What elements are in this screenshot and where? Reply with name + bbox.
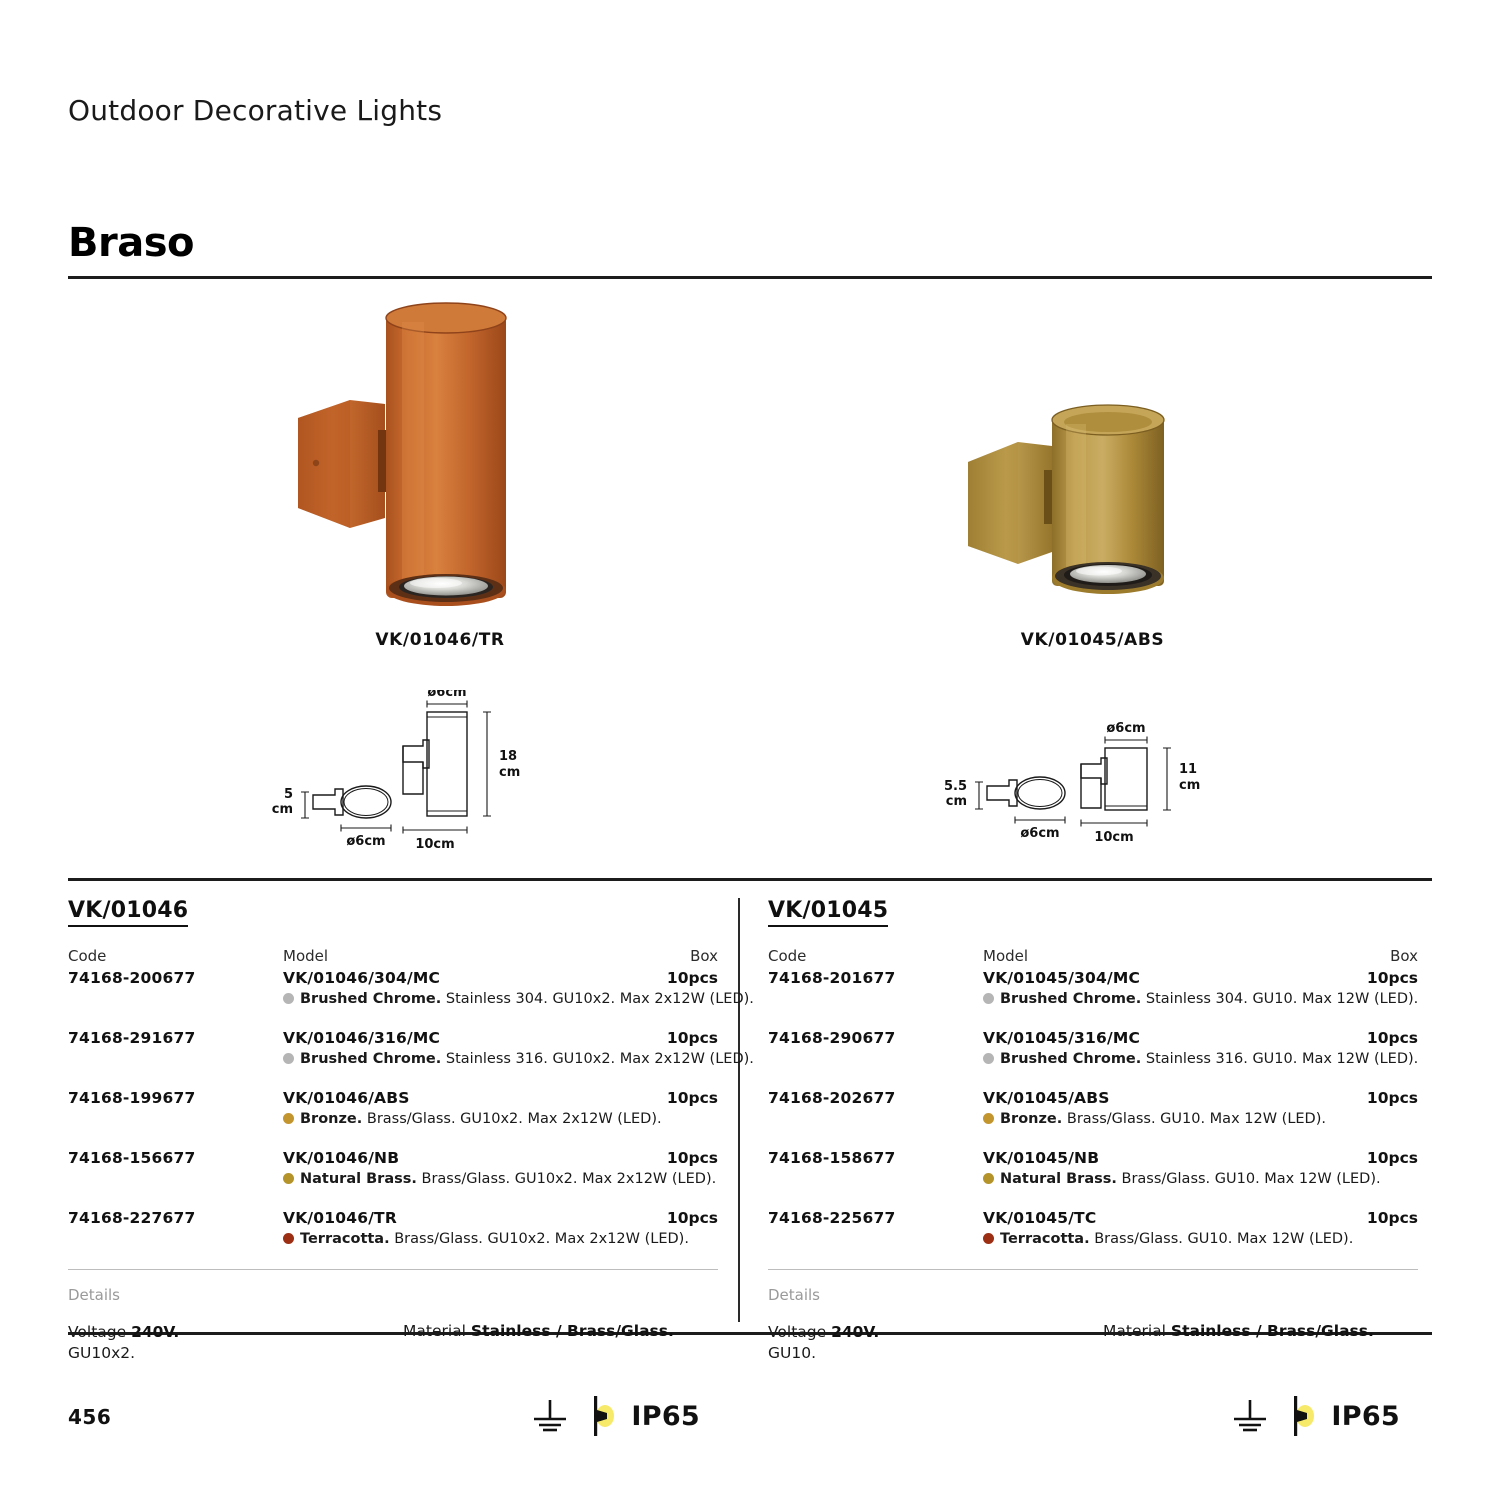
dim-right-side-height-1: 5.5: [944, 779, 967, 794]
table-row[interactable]: 74168-201677 VK/01045/304/MC 10pcs Brush…: [768, 969, 1418, 1013]
socket-value: GU10x2.: [68, 1344, 135, 1362]
color-swatch-icon: [983, 1173, 994, 1184]
row-code: 74168-202677: [768, 1089, 895, 1107]
row-finish: Bronze.: [1000, 1111, 1062, 1127]
dim-right-side-height-2: cm: [946, 794, 967, 809]
spec-column-title: VK/01046: [68, 898, 188, 927]
row-specs: Stainless 304. GU10x2. Max 2x12W (LED).: [446, 991, 754, 1007]
row-box: 10pcs: [1367, 1029, 1418, 1047]
color-swatch-icon: [283, 1113, 294, 1124]
dim-left-side-height-2: cm: [272, 802, 293, 817]
row-code: 74168-200677: [68, 969, 195, 987]
voltage-label: Voltage: [768, 1323, 826, 1341]
dim-right-side-diameter: ø6cm: [1020, 826, 1059, 841]
row-box: 10pcs: [667, 1089, 718, 1107]
color-swatch-icon: [983, 1113, 994, 1124]
column-header-code: Code: [68, 947, 106, 965]
wall-mounted-light-icon: [1289, 1394, 1315, 1438]
row-description: Brushed Chrome. Stainless 304. GU10x2. M…: [283, 991, 754, 1007]
row-box: 10pcs: [667, 969, 718, 987]
color-swatch-icon: [283, 993, 294, 1004]
header-divider-rule: [68, 276, 1432, 279]
dim-left-front-height-2: cm: [499, 765, 520, 780]
details-label: Details: [768, 1286, 1418, 1304]
product-photo-vk01045-abs: [960, 400, 1225, 620]
row-finish: Brushed Chrome.: [300, 1051, 441, 1067]
row-specs: Brass/Glass. GU10. Max 12W (LED).: [1094, 1231, 1353, 1247]
row-specs: Brass/Glass. GU10. Max 12W (LED).: [1067, 1111, 1326, 1127]
row-box: 10pcs: [1367, 1209, 1418, 1227]
color-swatch-icon: [283, 1053, 294, 1064]
row-finish: Brushed Chrome.: [1000, 991, 1141, 1007]
socket-value: GU10.: [768, 1344, 816, 1362]
dim-right-front-width: 10cm: [1094, 830, 1133, 845]
material-detail: Material Stainless / Brass/Glass.: [1103, 1322, 1374, 1340]
column-header-box: Box: [1390, 947, 1418, 965]
row-box: 10pcs: [1367, 1149, 1418, 1167]
voltage-label: Voltage: [68, 1323, 126, 1341]
row-specs: Brass/Glass. GU10. Max 12W (LED).: [1122, 1171, 1381, 1187]
row-specs: Brass/Glass. GU10x2. Max 2x12W (LED).: [367, 1111, 662, 1127]
row-description: Terracotta. Brass/Glass. GU10. Max 12W (…: [983, 1231, 1353, 1247]
row-model: VK/01045/NB: [983, 1149, 1099, 1167]
row-model: VK/01045/TC: [983, 1209, 1096, 1227]
dim-left-front-width: 10cm: [415, 837, 454, 852]
row-description: Brushed Chrome. Stainless 304. GU10. Max…: [983, 991, 1418, 1007]
table-row[interactable]: 74168-291677 VK/01046/316/MC 10pcs Brush…: [68, 1029, 718, 1073]
column-header-model: Model: [283, 947, 328, 965]
dim-left-side-height-1: 5: [284, 787, 293, 802]
row-model: VK/01045/304/MC: [983, 969, 1140, 987]
product-photo-vk01046-tr: [290, 300, 590, 620]
row-code: 74168-201677: [768, 969, 895, 987]
material-label: Material: [1103, 1322, 1166, 1340]
dim-right-front-width-top: ø6cm: [1106, 721, 1145, 736]
dim-right-front-height-1: 11: [1179, 762, 1197, 777]
page-number: 456: [68, 1405, 111, 1429]
material-value: Stainless / Brass/Glass.: [1171, 1322, 1374, 1340]
details-divider: [68, 1269, 718, 1270]
ip-rating-badge: IP65: [631, 1401, 700, 1432]
row-description: Bronze. Brass/Glass. GU10. Max 12W (LED)…: [983, 1111, 1326, 1127]
dim-left-front-height-1: 18: [499, 749, 517, 764]
page-category-title: Outdoor Decorative Lights: [68, 94, 442, 127]
voltage-value: 240V.: [831, 1323, 879, 1341]
row-code: 74168-225677: [768, 1209, 895, 1227]
dim-right-front-height-2: cm: [1179, 778, 1200, 793]
table-row[interactable]: 74168-227677 VK/01046/TR 10pcs Terracott…: [68, 1209, 718, 1253]
column-header-model: Model: [983, 947, 1028, 965]
row-model: VK/01045/316/MC: [983, 1029, 1140, 1047]
row-description: Bronze. Brass/Glass. GU10x2. Max 2x12W (…: [283, 1111, 662, 1127]
color-swatch-icon: [283, 1173, 294, 1184]
earth-ground-icon: [1227, 1396, 1273, 1436]
table-header-row: Code Model Box: [68, 947, 718, 967]
row-finish: Brushed Chrome.: [1000, 1051, 1141, 1067]
row-box: 10pcs: [667, 1029, 718, 1047]
voltage-detail: Voltage 240V. GU10x2.: [68, 1322, 179, 1364]
table-row[interactable]: 74168-290677 VK/01045/316/MC 10pcs Brush…: [768, 1029, 1418, 1073]
row-box: 10pcs: [667, 1209, 718, 1227]
row-code: 74168-158677: [768, 1149, 895, 1167]
dimension-drawing-vk01046: 5 cm ø6cm ø6cm 18 cm 10cm: [265, 690, 565, 860]
row-finish: Bronze.: [300, 1111, 362, 1127]
row-model: VK/01046/316/MC: [283, 1029, 440, 1047]
wall-mounted-light-icon: [589, 1394, 615, 1438]
column-separator: [738, 898, 740, 1322]
row-finish: Natural Brass.: [1000, 1171, 1117, 1187]
row-box: 10pcs: [667, 1149, 718, 1167]
row-code: 74168-291677: [68, 1029, 195, 1047]
voltage-detail: Voltage 240V. GU10.: [768, 1322, 879, 1364]
row-finish: Terracotta.: [300, 1231, 390, 1247]
product-caption-right: VK/01045/ABS: [960, 630, 1225, 650]
badges-row: IP65: [768, 1382, 1418, 1438]
material-value: Stainless / Brass/Glass.: [471, 1322, 674, 1340]
row-finish: Natural Brass.: [300, 1171, 417, 1187]
row-box: 10pcs: [1367, 1089, 1418, 1107]
dimension-drawings-zone: 5 cm ø6cm ø6cm 18 cm 10cm: [0, 690, 1500, 860]
spec-column-vk01045: VK/01045 Code Model Box 74168-201677 VK/…: [768, 898, 1418, 1438]
row-specs: Stainless 316. GU10. Max 12W (LED).: [1146, 1051, 1418, 1067]
row-model: VK/01046/ABS: [283, 1089, 410, 1107]
row-description: Natural Brass. Brass/Glass. GU10. Max 12…: [983, 1171, 1381, 1187]
table-row[interactable]: 74168-156677 VK/01046/NB 10pcs Natural B…: [68, 1149, 718, 1193]
product-photo-zone: VK/01046/TR VK/01045/ABS: [0, 290, 1500, 660]
dim-left-side-diameter: ø6cm: [346, 834, 385, 849]
row-specs: Brass/Glass. GU10x2. Max 2x12W (LED).: [394, 1231, 689, 1247]
row-model: VK/01045/ABS: [983, 1089, 1110, 1107]
row-description: Terracotta. Brass/Glass. GU10x2. Max 2x1…: [283, 1231, 689, 1247]
table-row[interactable]: 74168-199677 VK/01046/ABS 10pcs Bronze. …: [68, 1089, 718, 1133]
row-model: VK/01046/NB: [283, 1149, 399, 1167]
tables-top-rule: [68, 878, 1432, 881]
table-row[interactable]: 74168-200677 VK/01046/304/MC 10pcs Brush…: [68, 969, 718, 1013]
product-caption-left: VK/01046/TR: [290, 630, 590, 650]
voltage-value: 240V.: [131, 1323, 179, 1341]
spec-column-vk01046: VK/01046 Code Model Box 74168-200677 VK/…: [68, 898, 718, 1438]
table-row[interactable]: 74168-158677 VK/01045/NB 10pcs Natural B…: [768, 1149, 1418, 1193]
details-divider: [768, 1269, 1418, 1270]
row-model: VK/01046/304/MC: [283, 969, 440, 987]
material-detail: Material Stainless / Brass/Glass.: [403, 1322, 674, 1340]
dimension-drawing-vk01045: 5.5 cm ø6cm ø6cm 11 cm 10cm: [935, 720, 1235, 860]
spec-column-title: VK/01045: [768, 898, 888, 927]
row-description: Brushed Chrome. Stainless 316. GU10. Max…: [983, 1051, 1418, 1067]
details-label: Details: [68, 1286, 718, 1304]
row-description: Natural Brass. Brass/Glass. GU10x2. Max …: [283, 1171, 716, 1187]
badges-row: IP65: [68, 1382, 718, 1438]
row-code: 74168-227677: [68, 1209, 195, 1227]
earth-ground-icon: [527, 1396, 573, 1436]
row-code: 74168-199677: [68, 1089, 195, 1107]
product-family-title: Braso: [68, 220, 194, 266]
table-row[interactable]: 74168-225677 VK/01045/TC 10pcs Terracott…: [768, 1209, 1418, 1253]
color-swatch-icon: [983, 1233, 994, 1244]
row-finish: Brushed Chrome.: [300, 991, 441, 1007]
row-specs: Brass/Glass. GU10x2. Max 2x12W (LED).: [422, 1171, 717, 1187]
details-body: Voltage 240V. GU10. Material Stainless /…: [768, 1322, 1418, 1370]
dim-left-front-width-top: ø6cm: [427, 690, 466, 700]
row-box: 10pcs: [1367, 969, 1418, 987]
row-finish: Terracotta.: [1000, 1231, 1090, 1247]
ip-rating-badge: IP65: [1331, 1401, 1400, 1432]
color-swatch-icon: [983, 1053, 994, 1064]
color-swatch-icon: [283, 1233, 294, 1244]
row-specs: Stainless 316. GU10x2. Max 2x12W (LED).: [446, 1051, 754, 1067]
color-swatch-icon: [983, 993, 994, 1004]
row-description: Brushed Chrome. Stainless 316. GU10x2. M…: [283, 1051, 754, 1067]
row-specs: Stainless 304. GU10. Max 12W (LED).: [1146, 991, 1418, 1007]
row-model: VK/01046/TR: [283, 1209, 397, 1227]
column-header-code: Code: [768, 947, 806, 965]
column-header-box: Box: [690, 947, 718, 965]
details-body: Voltage 240V. GU10x2. Material Stainless…: [68, 1322, 718, 1370]
table-row[interactable]: 74168-202677 VK/01045/ABS 10pcs Bronze. …: [768, 1089, 1418, 1133]
row-code: 74168-290677: [768, 1029, 895, 1047]
material-label: Material: [403, 1322, 466, 1340]
row-code: 74168-156677: [68, 1149, 195, 1167]
table-header-row: Code Model Box: [768, 947, 1418, 967]
